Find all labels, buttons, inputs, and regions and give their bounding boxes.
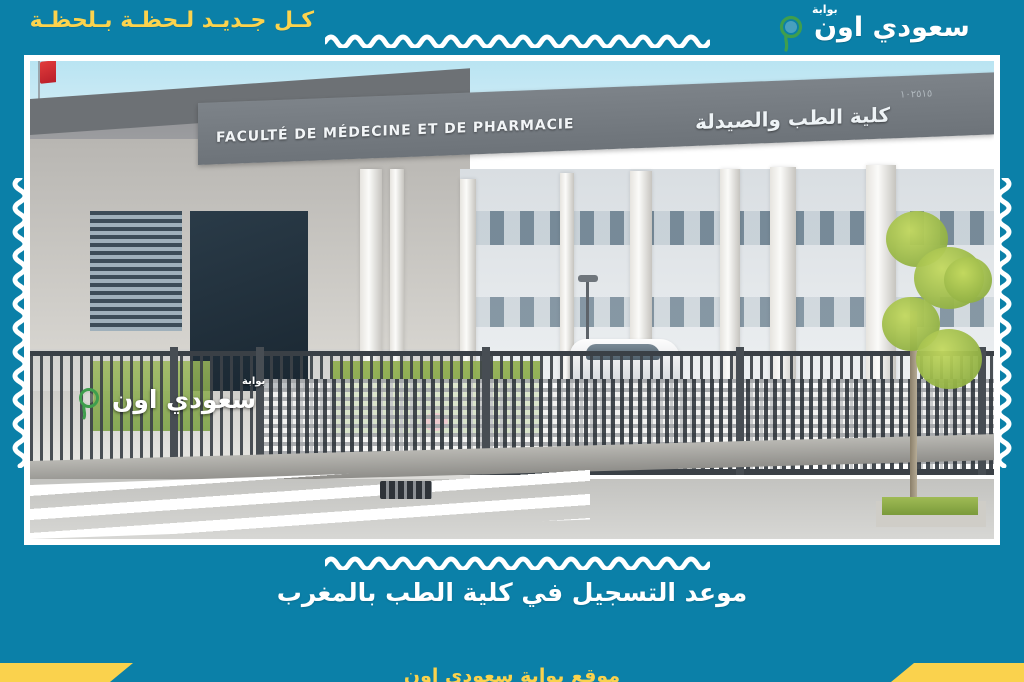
bottom-ribbon: موقع بوابة سعودي اون	[0, 663, 1024, 682]
photo-left-windows	[90, 211, 182, 331]
photo-morocco-flag	[40, 61, 56, 84]
wave-top-decoration	[325, 30, 710, 48]
photo-storm-drain	[380, 481, 432, 499]
poster-canvas: كـل جـديـد لـحظـة بـلحظـة بوابة سعودي او…	[0, 0, 1024, 682]
brand-name: سعودي اون	[814, 12, 970, 43]
photo-sign-number: ١٠٢٥١٥	[900, 88, 932, 100]
header-tagline: كـل جـديـد لـحظـة بـلحظـة	[30, 8, 314, 33]
hero-photo: FACULTÉ DE MÉDECINE ET DE PHARMACIE كلية…	[30, 61, 994, 539]
brand-logo[interactable]: بوابة سعودي اون	[770, 2, 1010, 54]
page-title: موعد التسجيل في كلية الطب بالمغرب	[0, 578, 1024, 607]
wave-right-decoration	[998, 178, 1016, 468]
ribbon-text: موقع بوابة سعودي اون	[0, 665, 1024, 682]
watermark-name: سعودي اون	[112, 385, 256, 414]
photo-lamp-head	[578, 275, 598, 282]
photo-planter-grass	[882, 497, 978, 515]
photo-tree-foliage	[944, 257, 992, 303]
magnifier-icon	[774, 14, 808, 52]
photo-tree-foliage	[916, 329, 982, 389]
wave-bottom-decoration	[325, 552, 710, 570]
magnifier-icon	[74, 386, 104, 420]
photo-watermark: بوابة سعودي اون	[70, 376, 280, 426]
